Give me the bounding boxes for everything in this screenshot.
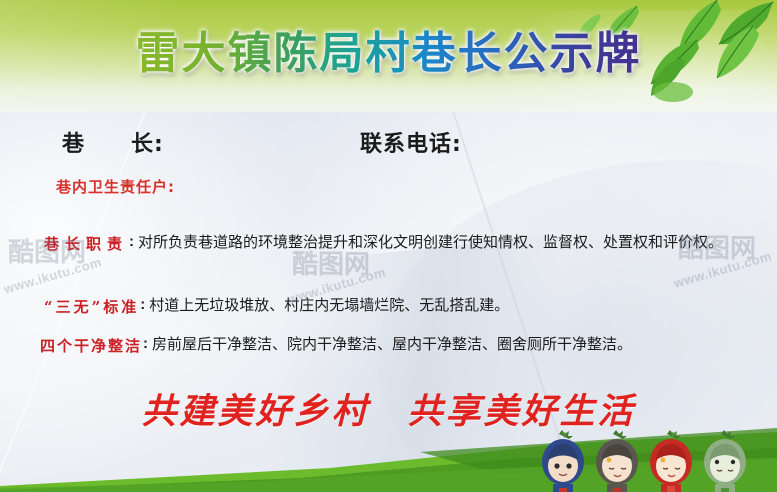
mascot-blue-icon bbox=[542, 430, 584, 492]
clause-four-clean-colon: : bbox=[142, 334, 152, 352]
header-banner: 雷大镇陈局村巷长公示牌 bbox=[0, 0, 777, 112]
sanitation-household-label: 巷内卫生责任户: bbox=[56, 176, 175, 197]
mascot-red-icon bbox=[650, 430, 692, 492]
clause-duties-colon: : bbox=[128, 232, 138, 250]
clause-three-none-value: 村道上无垃圾堆放、村庄内无塌墙烂院、无乱搭乱建。 bbox=[149, 295, 758, 317]
clause-duties-key: 巷长职责 bbox=[44, 232, 128, 254]
mascot-green-icon bbox=[704, 430, 746, 492]
clause-four-clean-key: 四个干净整洁 bbox=[40, 334, 142, 356]
field-row-top: 巷 长: 联系电话: bbox=[0, 126, 777, 160]
contact-phone-label: 联系电话: bbox=[360, 126, 462, 158]
publicity-board: 雷大镇陈局村巷长公示牌 巷 长: 联系电话: 巷内卫生责任户: 巷长职责 : 对… bbox=[0, 0, 777, 492]
clause-three-none: “三无”标准 : 村道上无垃圾堆放、村庄内无塌墙烂院、无乱搭乱建。 bbox=[44, 295, 758, 317]
mascot-gray-icon bbox=[596, 430, 638, 492]
alley-chief-label: 巷 长: bbox=[62, 126, 164, 158]
clause-duties-value: 对所负责巷道路的环境整治提升和深化文明创建行使知情权、监督权、处置权和评价权。 bbox=[138, 232, 758, 254]
clause-three-none-colon: : bbox=[139, 295, 149, 313]
mascot-group-graphic bbox=[537, 430, 769, 492]
page-title: 雷大镇陈局村巷长公示牌 bbox=[130, 30, 648, 78]
clause-four-clean-value: 房前屋后干净整洁、院内干净整洁、屋内干净整洁、圈舍厕所干净整洁。 bbox=[152, 334, 758, 356]
bottom-slogan: 共建美好乡村 共享美好生活 bbox=[0, 383, 777, 434]
clause-duties: 巷长职责 : 对所负责巷道路的环境整治提升和深化文明创建行使知情权、监督权、处置… bbox=[44, 232, 758, 254]
title-container: 雷大镇陈局村巷长公示牌 bbox=[0, 30, 777, 78]
clause-three-none-key: “三无”标准 bbox=[44, 295, 139, 317]
clause-four-clean: 四个干净整洁 : 房前屋后干净整洁、院内干净整洁、屋内干净整洁、圈舍厕所干净整洁… bbox=[40, 334, 758, 356]
